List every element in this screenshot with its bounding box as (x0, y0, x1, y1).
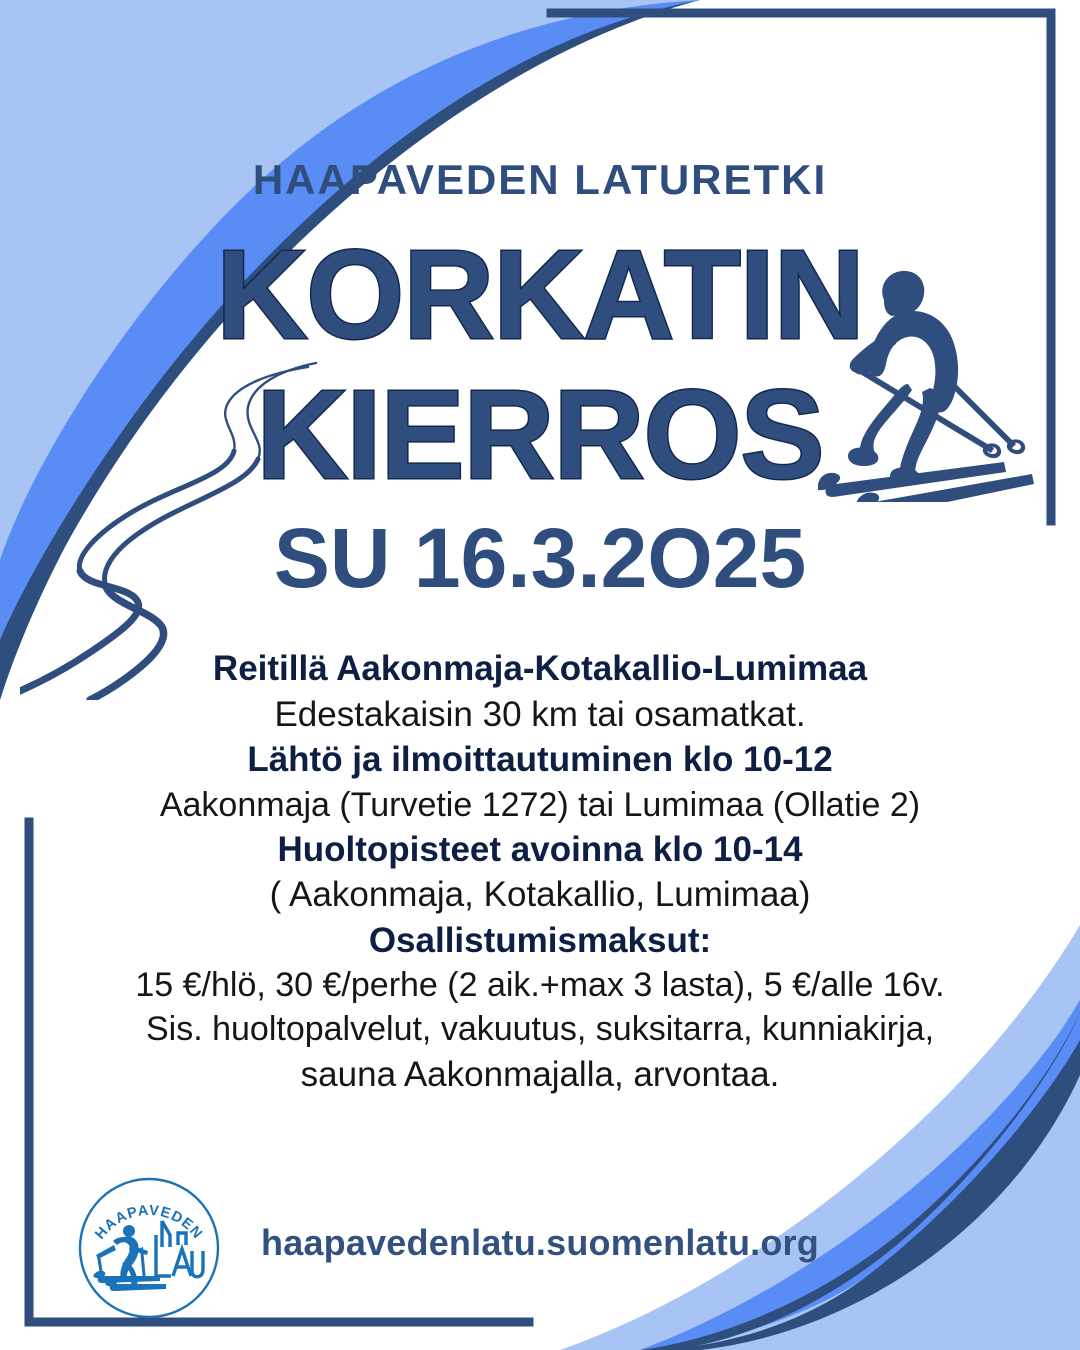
poster-canvas: HAAPAVEDEN LATURETKI KORKATIN KIERROS SU… (0, 0, 1080, 1350)
detail-line: Sis. huoltopalvelut, vakuutus, suksitarr… (40, 1007, 1040, 1051)
detail-line: 15 €/hlö, 30 €/perhe (2 aik.+max 3 lasta… (40, 963, 1040, 1007)
poster-title-line-1: KORKATIN (0, 232, 1080, 358)
detail-line: Edestakaisin 30 km tai osamatkat. (40, 692, 1040, 738)
detail-line: ( Aakonmaja, Kotakallio, Lumimaa) (40, 872, 1040, 918)
detail-line: Reitillä Aakonmaja-Kotakallio-Lumimaa (40, 646, 1040, 692)
detail-line: sauna Aakonmajalla, arvontaa. (40, 1052, 1040, 1098)
detail-line: Osallistumismaksut: (40, 918, 1040, 964)
poster-date: SU 16.3.2O25 (0, 516, 1080, 600)
logo-ring (80, 1179, 218, 1317)
poster-title-line-2: KIERROS (0, 372, 1080, 498)
haapaveden-latu-logo: HAAPAVEDEN LATU (74, 1173, 224, 1323)
detail-line: Aakonmaja (Turvetie 1272) tai Lumimaa (O… (40, 783, 1040, 827)
poster-kicker: HAAPAVEDEN LATURETKI (0, 158, 1080, 202)
detail-line: Lähtö ja ilmoittautuminen klo 10-12 (40, 737, 1040, 783)
details-block: Reitillä Aakonmaja-Kotakallio-Lumimaa Ed… (40, 646, 1040, 1097)
detail-line: Huoltopisteet avoinna klo 10-14 (40, 827, 1040, 873)
